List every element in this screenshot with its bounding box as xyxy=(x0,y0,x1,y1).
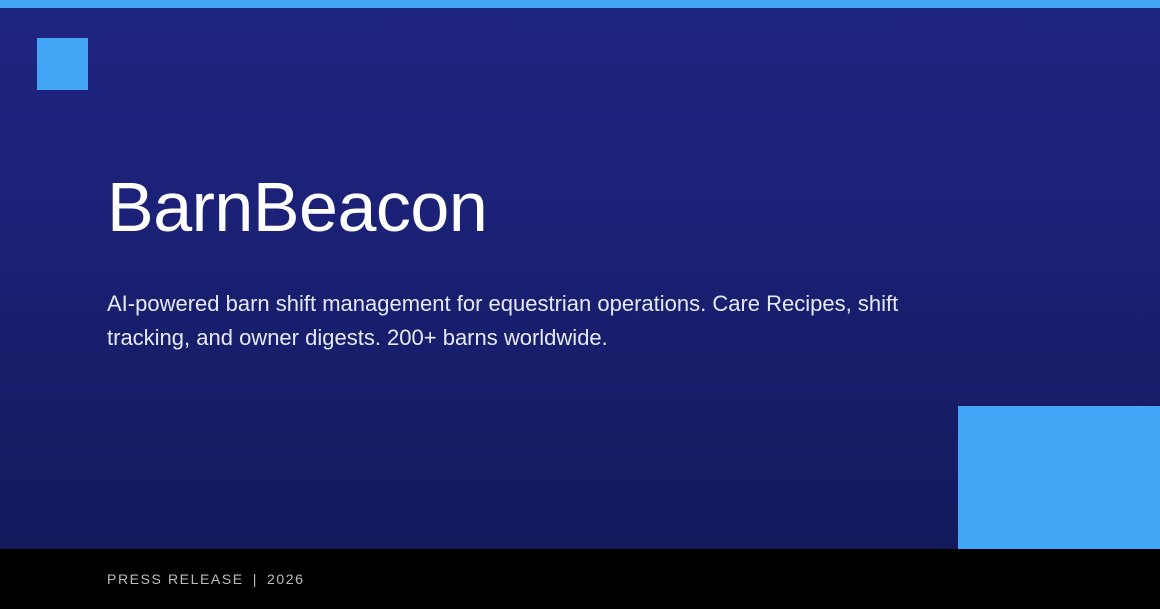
bottom-right-accent-block xyxy=(958,406,1160,549)
logo-square-icon xyxy=(37,38,88,90)
top-accent-bar xyxy=(0,0,1160,8)
footer-year: 2026 xyxy=(267,571,305,587)
slide-background: BarnBeacon AI-powered barn shift managem… xyxy=(0,8,1160,549)
footer-meta: PRESS RELEASE | 2026 xyxy=(107,549,305,609)
slide-subtitle: AI-powered barn shift management for equ… xyxy=(107,287,937,355)
footer-label: PRESS RELEASE xyxy=(107,571,244,587)
page-title: BarnBeacon xyxy=(107,168,987,246)
footer-separator: | xyxy=(244,571,267,587)
press-release-title-slide: BarnBeacon AI-powered barn shift managem… xyxy=(0,0,1160,609)
slide-content: BarnBeacon AI-powered barn shift managem… xyxy=(107,168,987,355)
slide-footer: PRESS RELEASE | 2026 xyxy=(0,549,1160,609)
